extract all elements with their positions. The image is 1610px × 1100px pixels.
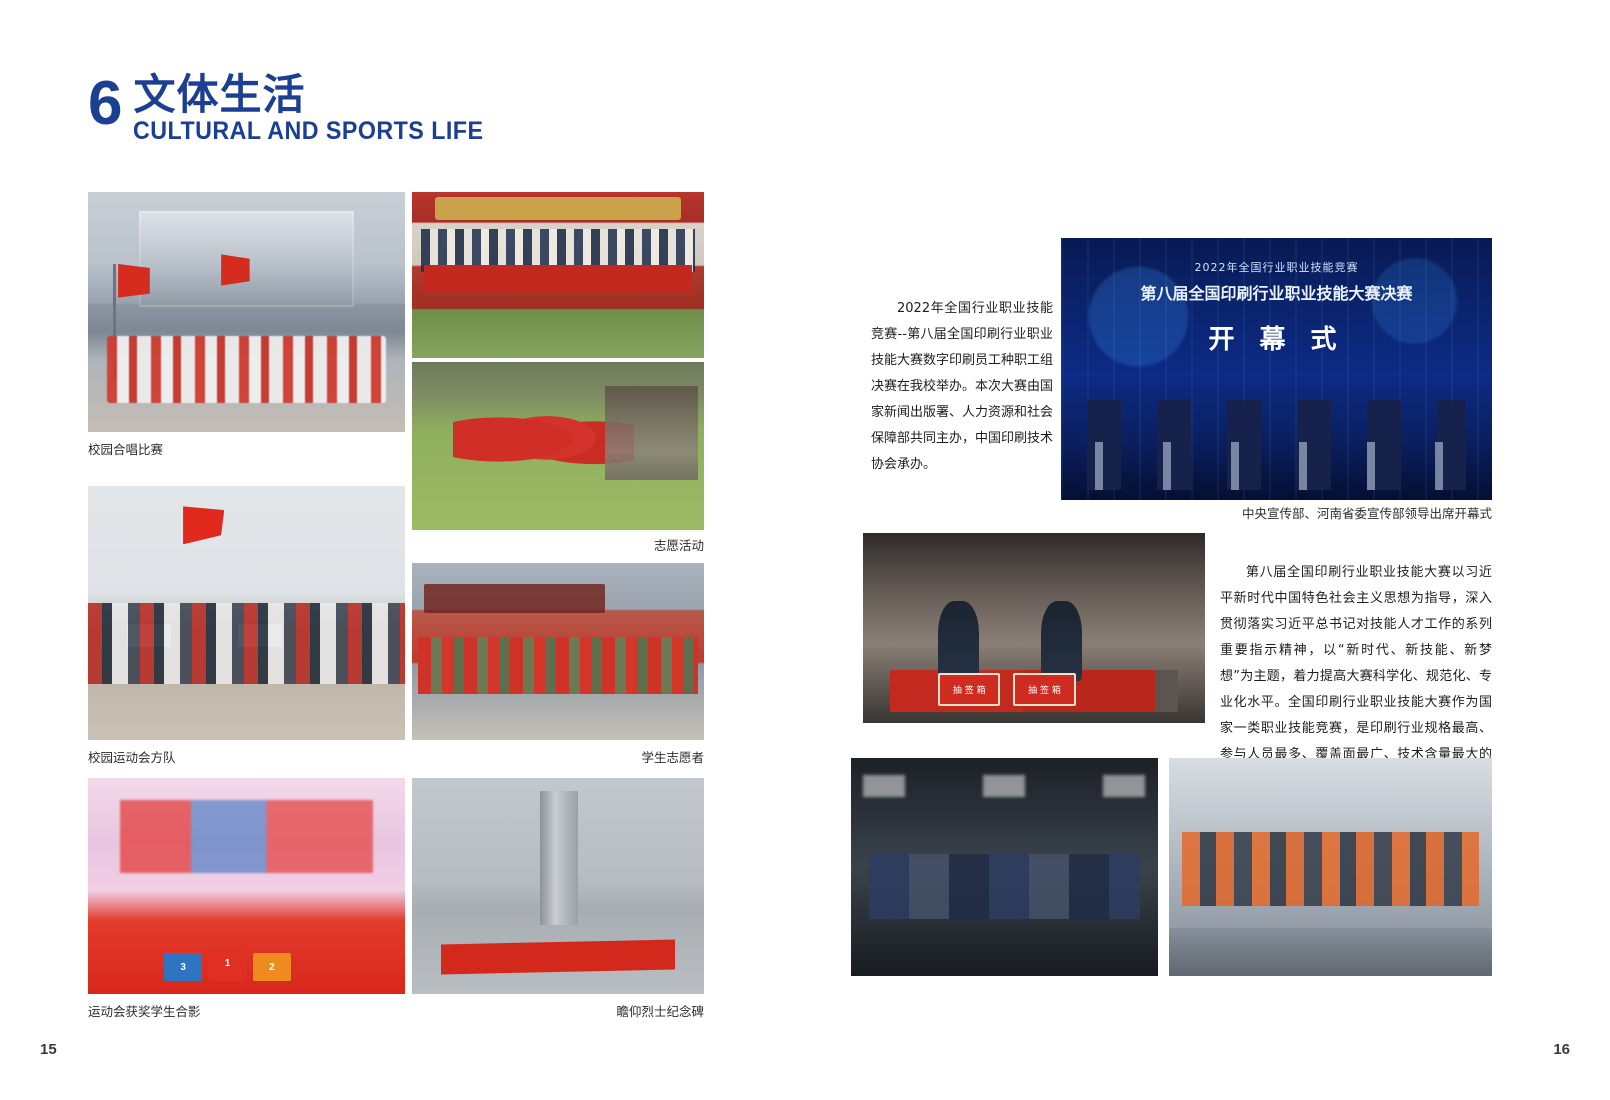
caption-student-volunteers: 学生志愿者 — [412, 750, 704, 765]
photo-chorus — [88, 192, 405, 432]
photo-elderly-care — [412, 192, 704, 358]
screen-text-line3: 开 幕 式 — [1208, 319, 1344, 356]
caption-awards-podium: 运动会获奖学生合影 — [88, 1004, 201, 1019]
caption-opening-ceremony: 中央宣传部、河南省委宣传部领导出席开幕式 — [1061, 506, 1492, 521]
photo-monument — [412, 778, 704, 994]
caption-sports-parade: 校园运动会方队 — [88, 750, 176, 765]
podium-first-place: 1 — [208, 947, 246, 982]
page-subtitle: CULTURAL AND SPORTS LIFE — [133, 118, 483, 146]
podium-second-place: 2 — [253, 953, 291, 981]
caption-volunteer: 志愿活动 — [412, 538, 704, 553]
section-title-group: 文体生活 CULTURAL AND SPORTS LIFE — [133, 74, 510, 146]
right-page: 第八届 全国印刷行业职业技能大赛 数字印刷员工种职工组决赛 全国印刷行业职业技能… — [805, 0, 1610, 1100]
draw-box-right: 抽 签 箱 — [1013, 673, 1075, 706]
placard-shape — [126, 623, 172, 648]
red-flag-icon — [221, 254, 250, 285]
photo-press-workshop — [851, 758, 1158, 976]
crowd-shape — [421, 229, 695, 272]
photo-volunteer — [412, 362, 704, 530]
photo-sports-parade — [88, 486, 405, 740]
section-header: 6 文体生活 CULTURAL AND SPORTS LIFE — [88, 78, 510, 146]
flagpole-shape — [113, 264, 116, 379]
person-shape — [1041, 601, 1082, 681]
screen-text-line2: 第八届全国印刷行业职业技能大赛决赛 — [1140, 280, 1412, 304]
screen-text-line1: 2022年全国行业职业技能竞赛 — [1195, 259, 1359, 275]
magazine-spread: 6 文体生活 CULTURAL AND SPORTS LIFE 校园合唱比赛 志… — [0, 0, 1610, 1100]
person-shape — [938, 601, 979, 681]
red-flag-icon — [118, 264, 150, 298]
photo-computer-lab — [1169, 758, 1492, 976]
left-page: 6 文体生活 CULTURAL AND SPORTS LIFE 校园合唱比赛 志… — [0, 0, 805, 1100]
placard-shape — [237, 623, 283, 648]
section-number: 6 — [88, 78, 121, 131]
page-title: 文体生活 — [133, 74, 510, 116]
stage-podium-shape — [1095, 442, 1457, 489]
podium-third-place: 3 — [164, 953, 202, 981]
photo-student-volunteers — [412, 563, 704, 740]
intro-paragraph: 2022年全国行业职业技能竞赛--第八届全国印刷行业职业技能大赛数字印刷员工种职… — [871, 296, 1053, 478]
page-number-right: 16 — [1553, 1041, 1570, 1058]
photo-opening-ceremony: 2022年全国行业职业技能竞赛 第八届全国印刷行业职业技能大赛决赛 开 幕 式 — [1061, 238, 1492, 500]
photo-draw-lots-ceremony: 抽 签 箱 抽 签 箱 — [863, 533, 1205, 723]
caption-monument: 瞻仰烈士纪念碑 — [412, 1004, 704, 1019]
draw-box-left: 抽 签 箱 — [938, 673, 1000, 706]
caption-chorus: 校园合唱比赛 — [88, 442, 163, 457]
photo-awards-podium: 3 1 2 — [88, 778, 405, 994]
page-number-left: 15 — [40, 1041, 57, 1058]
